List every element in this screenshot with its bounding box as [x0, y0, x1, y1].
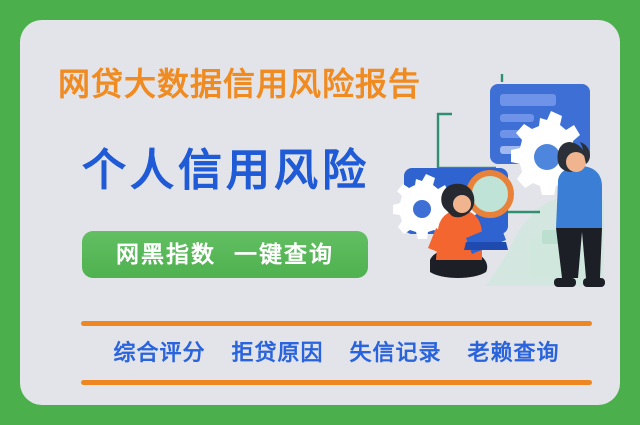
- feature-link-reject-reason[interactable]: 拒贷原因: [231, 342, 323, 364]
- poster-panel: 网贷大数据信用风险报告 个人信用风险 网黑指数 一键查询 综合评分 拒贷原因 失…: [20, 20, 620, 405]
- cta-label-index: 网黑指数: [116, 243, 216, 266]
- poster-headline-text: 个人信用风险: [82, 149, 370, 193]
- divider-top: [81, 321, 592, 326]
- divider-bottom: [81, 380, 592, 385]
- poster-title-text: 网贷大数据信用风险报告: [58, 68, 421, 100]
- query-cta-button[interactable]: 网黑指数 一键查询: [82, 231, 368, 278]
- connector-line-left: [438, 114, 496, 168]
- feature-link-default-record[interactable]: 失信记录: [350, 342, 442, 364]
- feature-link-score[interactable]: 综合评分: [113, 342, 205, 364]
- feature-link-defaulter-query[interactable]: 老赖查询: [468, 342, 560, 364]
- feature-links-row: 综合评分 拒贷原因 失信记录 老赖查询: [81, 336, 592, 370]
- poster-root: 网贷大数据信用风险报告 个人信用风险 网黑指数 一键查询 综合评分 拒贷原因 失…: [0, 0, 640, 425]
- cta-label-query: 一键查询: [234, 243, 334, 266]
- data-analysis-illustration: [390, 42, 620, 312]
- poster-headline: 个人信用风险: [82, 142, 422, 200]
